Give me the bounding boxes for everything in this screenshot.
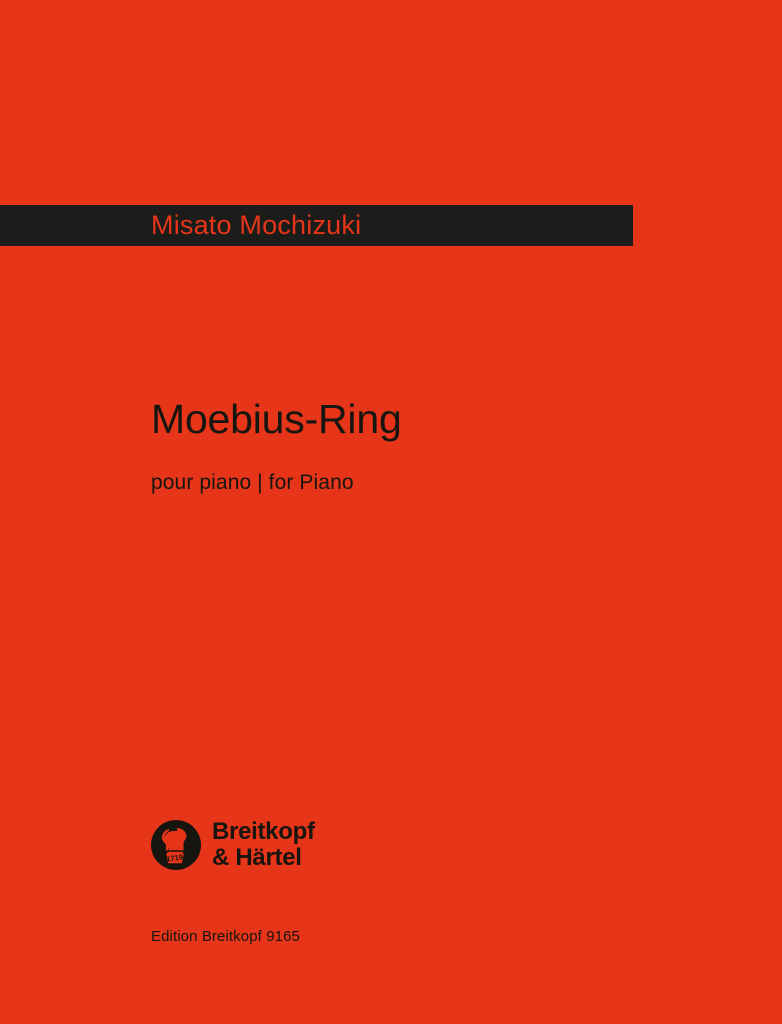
composer-name: Misato Mochizuki [151,210,361,241]
page-title: Moebius-Ring [151,398,711,441]
publisher-logo: 1719 Breitkopf & Härtel [151,819,315,871]
publisher-wordmark-line-1: Breitkopf [212,819,315,845]
publisher-wordmark: Breitkopf & Härtel [212,819,315,871]
composer-band: Misato Mochizuki [0,205,633,246]
title-block: Moebius-Ring pour piano | for Piano [151,398,711,495]
publisher-wordmark-line-2: & Härtel [212,845,315,871]
edition-number: Edition Breitkopf 9165 [151,928,300,945]
work-subtitle: pour piano | for Piano [151,471,711,495]
breitkopf-bear-emblem-icon: 1719 [151,820,201,870]
sheet-music-cover: Misato Mochizuki Moebius-Ring pour piano… [0,0,782,1024]
